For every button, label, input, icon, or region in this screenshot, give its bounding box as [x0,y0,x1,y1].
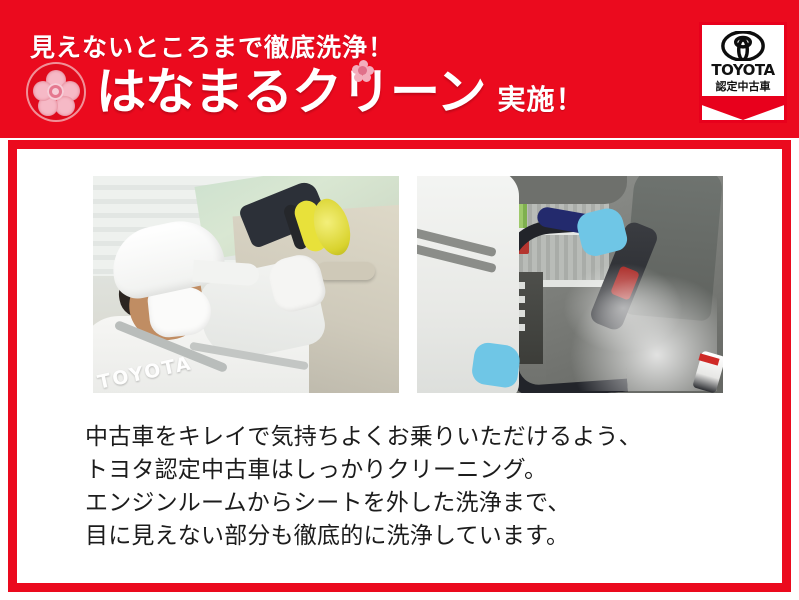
hanamaru-clean-banner: 見えないところまで徹底洗浄！ はなまるクリーン 実施！ [0,0,799,600]
toyota-emblem-icon [721,31,765,61]
brand-logo-lockup: はなまるクリーン 実施！ [26,62,585,122]
caption-line-4: 目に見えない部分も徹底的に洗浄しています。 [85,520,745,553]
toyota-certified-badge: TOYOTA 認定中古車 [699,22,787,123]
caption-block: 中古車をキレイで気持ちよくお乗りいただけるよう、 トヨタ認定中古車はしっかりクリ… [85,421,745,553]
content-frame: TOYOTA [8,140,791,592]
caption-line-3: エンジンルームからシートを外した洗浄まで、 [85,487,745,520]
header-headline: 見えないところまで徹底洗浄！ [30,28,394,64]
caption-line-2: トヨタ認定中古車はしっかりクリーニング。 [85,454,745,487]
brand-name: はなまるクリーン [96,67,486,117]
photo-polishing: TOYOTA [93,176,399,393]
photo-row: TOYOTA [93,176,723,393]
photo-steam-cleaning [417,176,723,393]
caption-line-1: 中古車をキレイで気持ちよくお乗りいただけるよう、 [85,421,745,454]
certification-label: 認定中古車 [716,81,771,92]
plum-blossom-icon [26,62,86,122]
plum-blossom-small-icon [352,60,374,82]
brand-suffix: 実施！ [498,78,585,122]
banner-header: 見えないところまで徹底洗浄！ はなまるクリーン 実施！ [0,0,799,138]
toyota-wordmark: TOYOTA [711,63,774,78]
